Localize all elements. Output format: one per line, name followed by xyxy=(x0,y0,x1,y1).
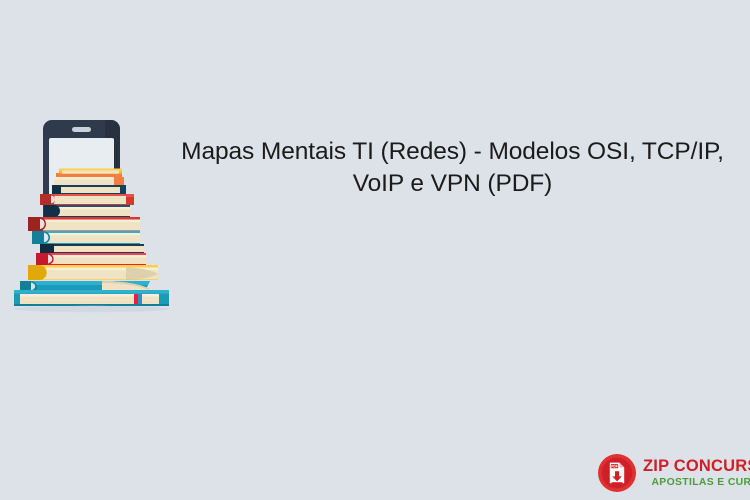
book-layer-top xyxy=(52,169,126,195)
page-title-text: Mapas Mentais TI (Redes) - Modelos OSI, … xyxy=(165,136,740,200)
page-title: Mapas Mentais TI (Redes) - Modelos OSI, … xyxy=(165,136,740,200)
svg-text:PDF: PDF xyxy=(611,464,618,468)
brand-name: ZIP CONCURSOS xyxy=(643,458,750,475)
brand-logo[interactable]: PDF ZIP CONCURSOS APOSTILAS E CURSOS xyxy=(598,452,744,494)
book-layer-navy xyxy=(44,205,130,217)
book-layer-base xyxy=(14,290,169,306)
drop-shadow xyxy=(14,306,170,312)
book-layer-red-upper xyxy=(40,194,134,205)
product-banner: Mapas Mentais TI (Redes) - Modelos OSI, … xyxy=(0,0,750,500)
book-layer-crimson xyxy=(36,253,146,265)
pdf-download-icon: PDF xyxy=(598,454,636,492)
book-layer-yellow xyxy=(28,265,158,280)
book-layer-teal xyxy=(32,231,140,244)
brand-tagline: APOSTILAS E CURSOS xyxy=(643,478,750,488)
book-layer-navy-thin xyxy=(40,244,144,253)
brand-logo-wordmark: ZIP CONCURSOS APOSTILAS E CURSOS xyxy=(643,458,750,488)
stack-of-books-with-tablet-icon xyxy=(10,118,175,313)
stack-of-books-illustration xyxy=(10,118,175,313)
book-layer-red-large xyxy=(28,217,140,231)
